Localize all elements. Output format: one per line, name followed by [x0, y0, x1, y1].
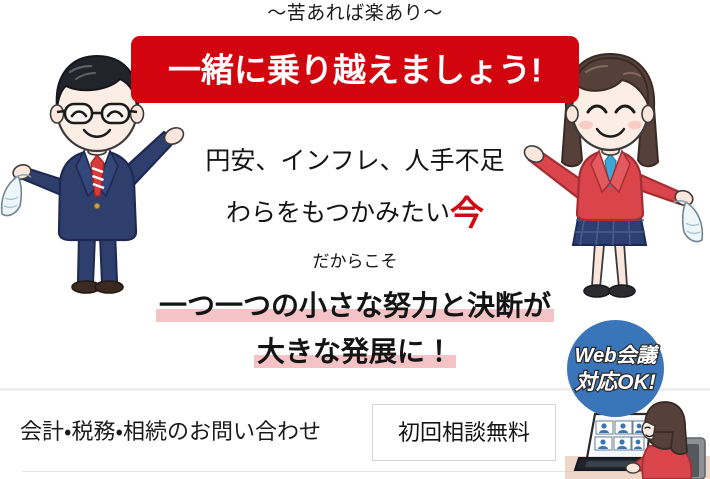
headline-text: 一緒に乗り越えましょう! — [131, 53, 579, 86]
punchline-1-text: 一つ一つの小さな努力と決断が — [156, 288, 554, 324]
headline-banner: 一緒に乗り越えましょう! — [131, 36, 579, 103]
contact-label: 会計・税務・相続のお問い合わせ — [20, 413, 321, 451]
banner-root: 〜苦あれば楽あり〜 — [0, 0, 710, 479]
copy-line-1: 円安、インフレ、人手不足 — [0, 145, 710, 177]
web-meeting-badge: Web会議 対応OK! — [567, 320, 664, 417]
web-badge-line-2: 対応OK! — [567, 372, 664, 393]
free-consultation-button[interactable]: 初回相談無料 — [372, 404, 556, 461]
free-consultation-button-label: 初回相談無料 — [373, 422, 555, 444]
copy-line-2: わらをもつかみたい今 — [0, 197, 710, 230]
copy-line-3: だからこそ — [0, 250, 710, 274]
copy-line-2-emphasis: 今 — [450, 195, 484, 233]
punchline-2-text: 大きな発展に！ — [254, 334, 456, 370]
tagline: 〜苦あれば楽あり〜 — [0, 0, 710, 29]
punchline-1: 一つ一つの小さな努力と決断が — [0, 288, 710, 324]
copy-line-2-prefix: わらをもつかみたい — [226, 199, 450, 227]
web-badge-line-1: Web会議 — [567, 346, 664, 366]
